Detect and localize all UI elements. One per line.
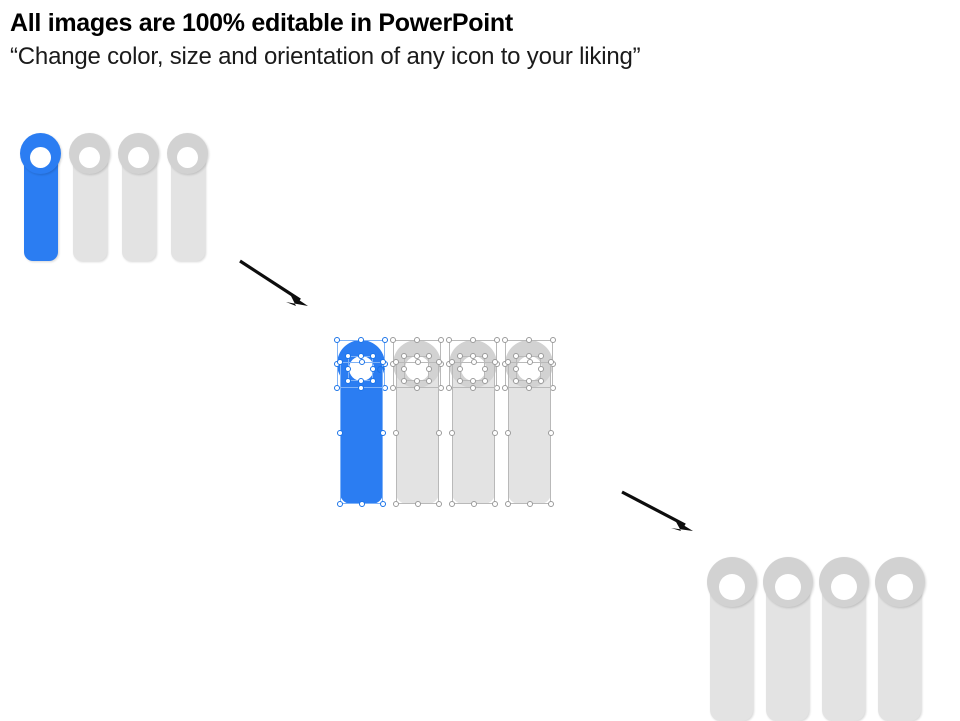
tag-ring-hole — [79, 147, 100, 168]
resize-handle[interactable] — [449, 359, 455, 365]
resize-handle[interactable] — [526, 337, 532, 343]
selection-box-body[interactable] — [452, 362, 495, 504]
tag-icon-4[interactable] — [878, 557, 921, 721]
resize-handle[interactable] — [426, 353, 432, 359]
resize-handle[interactable] — [337, 501, 343, 507]
resize-handle[interactable] — [494, 337, 500, 343]
resize-handle[interactable] — [505, 501, 511, 507]
resize-handle[interactable] — [415, 359, 421, 365]
tag-ring-hole — [775, 574, 801, 600]
resize-handle[interactable] — [337, 430, 343, 436]
tag-ring-hole — [887, 574, 913, 600]
resize-handle[interactable] — [548, 359, 554, 365]
tag-ring-hole — [177, 147, 198, 168]
resize-handle[interactable] — [457, 353, 463, 359]
resize-handle[interactable] — [393, 359, 399, 365]
resize-handle[interactable] — [505, 430, 511, 436]
resize-handle[interactable] — [436, 359, 442, 365]
resize-handle[interactable] — [358, 337, 364, 343]
resize-handle[interactable] — [471, 359, 477, 365]
resize-handle[interactable] — [436, 501, 442, 507]
resize-handle[interactable] — [334, 337, 340, 343]
resize-handle[interactable] — [492, 501, 498, 507]
icon-group-original[interactable] — [24, 133, 214, 248]
resize-handle[interactable] — [548, 430, 554, 436]
rotation-handle[interactable] — [376, 361, 385, 370]
resize-handle[interactable] — [527, 359, 533, 365]
resize-handle[interactable] — [359, 359, 365, 365]
selection-box-body[interactable] — [396, 362, 439, 504]
resize-handle[interactable] — [359, 501, 365, 507]
resize-handle[interactable] — [345, 353, 351, 359]
resize-handle[interactable] — [436, 430, 442, 436]
page-subtitle: “Change color, size and orientation of a… — [10, 42, 910, 72]
resize-handle[interactable] — [492, 430, 498, 436]
resize-handle[interactable] — [390, 337, 396, 343]
resize-handle[interactable] — [393, 501, 399, 507]
resize-handle[interactable] — [401, 353, 407, 359]
resize-handle[interactable] — [492, 359, 498, 365]
resize-handle[interactable] — [438, 337, 444, 343]
tag-ring-shape[interactable] — [167, 133, 208, 174]
resize-handle[interactable] — [482, 353, 488, 359]
resize-handle[interactable] — [415, 501, 421, 507]
selection-box-body[interactable] — [340, 362, 383, 504]
resize-handle[interactable] — [505, 359, 511, 365]
resize-handle[interactable] — [527, 501, 533, 507]
resize-handle[interactable] — [470, 337, 476, 343]
resize-handle[interactable] — [471, 501, 477, 507]
tag-icon-3[interactable] — [822, 557, 865, 721]
resize-handle[interactable] — [393, 430, 399, 436]
tag-icon-1[interactable] — [24, 133, 58, 261]
icon-group-recolored[interactable] — [710, 557, 945, 705]
tag-ring-hole — [719, 574, 745, 600]
selection-box-body[interactable] — [508, 362, 551, 504]
icon-group-selected[interactable] — [340, 340, 575, 488]
resize-handle[interactable] — [414, 337, 420, 343]
tag-ring-shape[interactable] — [875, 557, 925, 607]
resize-handle[interactable] — [382, 337, 388, 343]
resize-handle[interactable] — [513, 353, 519, 359]
resize-handle[interactable] — [548, 501, 554, 507]
resize-handle[interactable] — [337, 359, 343, 365]
arrow-step-2-icon — [620, 490, 705, 540]
tag-icon-2[interactable] — [73, 133, 107, 261]
tag-ring-shape[interactable] — [707, 557, 757, 607]
tag-ring-hole — [831, 574, 857, 600]
arrow-step-1-icon — [238, 258, 318, 313]
resize-handle[interactable] — [380, 501, 386, 507]
tag-ring-shape[interactable] — [69, 133, 110, 174]
tag-ring-shape[interactable] — [118, 133, 159, 174]
tag-ring-hole — [30, 147, 51, 168]
tag-ring-shape[interactable] — [20, 133, 61, 174]
resize-handle[interactable] — [449, 501, 455, 507]
heading-block: All images are 100% editable in PowerPoi… — [10, 8, 910, 72]
page-title: All images are 100% editable in PowerPoi… — [10, 8, 910, 38]
tag-ring-hole — [128, 147, 149, 168]
slide-canvas: { "slide": { "title": "All images are 10… — [0, 0, 960, 720]
resize-handle[interactable] — [380, 430, 386, 436]
tag-icon-1[interactable] — [710, 557, 753, 721]
resize-handle[interactable] — [538, 353, 544, 359]
tag-icon-2[interactable] — [766, 557, 809, 721]
tag-icon-4[interactable] — [171, 133, 205, 261]
tag-ring-shape[interactable] — [819, 557, 869, 607]
tag-ring-shape[interactable] — [763, 557, 813, 607]
tag-icon-3[interactable] — [122, 133, 156, 261]
resize-handle[interactable] — [446, 337, 452, 343]
resize-handle[interactable] — [370, 353, 376, 359]
resize-handle[interactable] — [550, 337, 556, 343]
resize-handle[interactable] — [449, 430, 455, 436]
resize-handle[interactable] — [502, 337, 508, 343]
